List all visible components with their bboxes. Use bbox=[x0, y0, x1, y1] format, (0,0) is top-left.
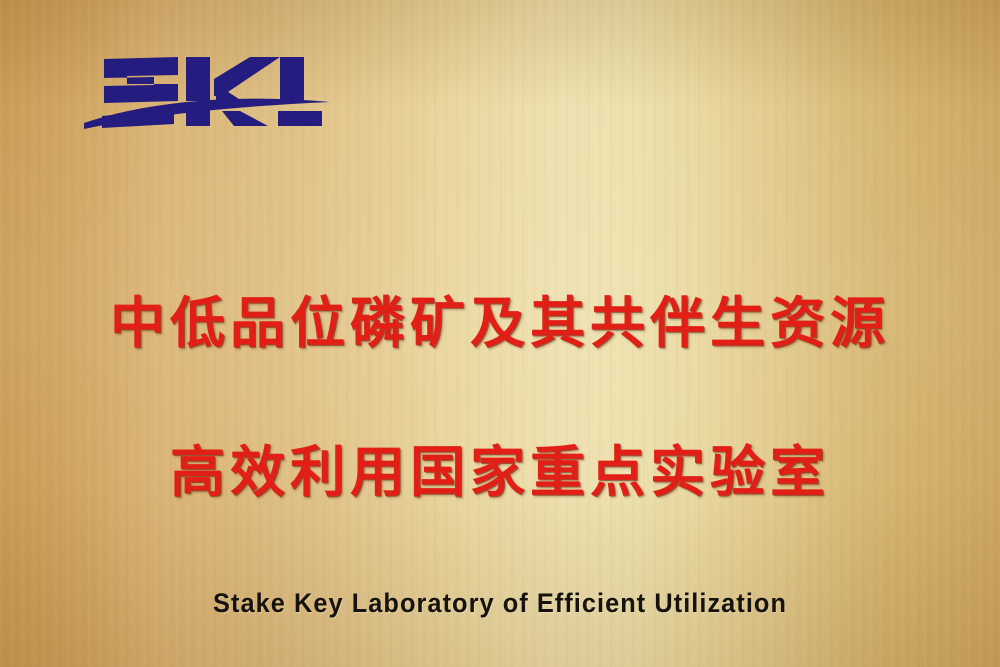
lab-title-cn-line-2: 高效利用国家重点实验室 bbox=[0, 427, 1000, 507]
lab-title-en-line-1: Stake Key Laboratory of Efficient Utiliz… bbox=[30, 588, 970, 619]
brass-plaque: 中低品位磷矿及其共伴生资源 高效利用国家重点实验室 Stake Key Labo… bbox=[0, 0, 1000, 667]
skl-logo-icon bbox=[82, 44, 332, 136]
skl-logo bbox=[82, 44, 332, 136]
lab-title-cn-line-1: 中低品位磷矿及其共伴生资源 bbox=[0, 278, 1000, 358]
